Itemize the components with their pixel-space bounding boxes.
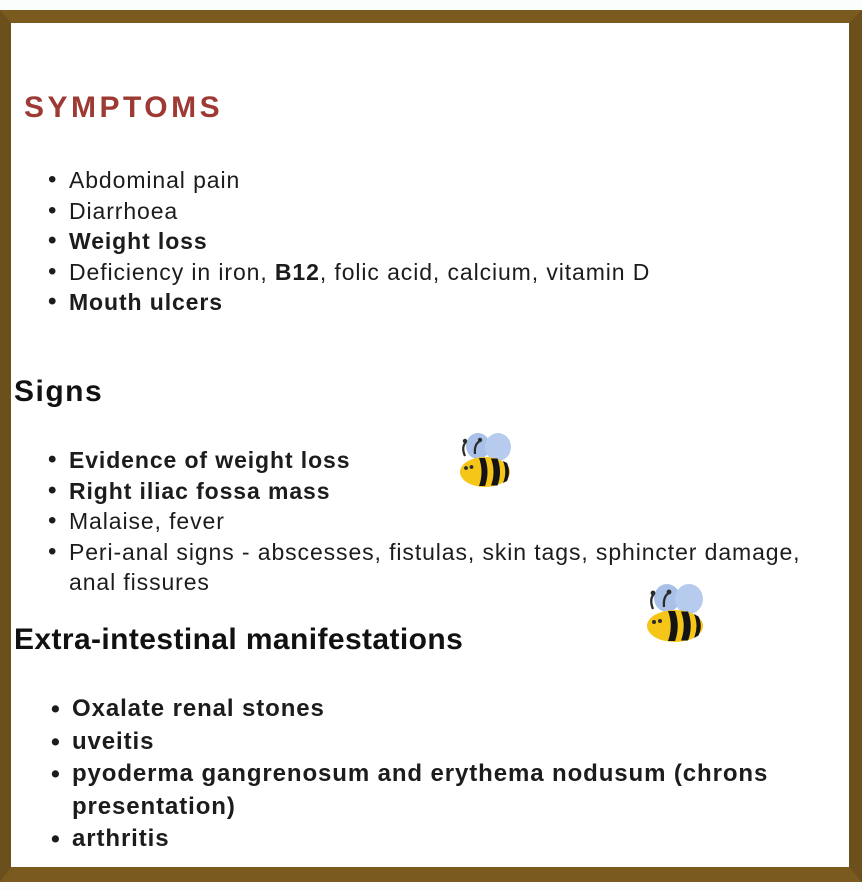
section-heading-signs: Signs (14, 375, 103, 409)
list-item: Evidence of weight loss (44, 445, 834, 476)
list-item: Oxalate renal stones (47, 693, 807, 726)
signs-list: Evidence of weight lossRight iliac fossa… (44, 445, 834, 598)
list-item: Weight loss (44, 226, 804, 257)
page-title-symptoms: SYMPTOMS (24, 91, 223, 125)
section-heading-extra-intestinal: Extra-intestinal manifestations (14, 623, 463, 657)
symptoms-list: Abdominal painDiarrhoeaWeight lossDefici… (44, 165, 804, 318)
list-item: pyoderma gangrenosum and erythema nodusu… (47, 758, 807, 823)
emphasis-text: B12 (275, 259, 320, 285)
list-item: Abdominal pain (44, 165, 804, 196)
list-item: Deficiency in iron, B12, folic acid, cal… (44, 257, 804, 288)
slide-content: SYMPTOMS Abdominal painDiarrhoeaWeight l… (11, 23, 849, 867)
slide-frame: SYMPTOMS Abdominal painDiarrhoeaWeight l… (0, 10, 862, 882)
list-item: Mouth ulcers (44, 287, 804, 318)
list-item: Peri-anal signs - abscesses, fistulas, s… (44, 537, 834, 598)
list-item: Malaise, fever (44, 506, 834, 537)
list-item: Diarrhoea (44, 196, 804, 227)
list-item: arthritis (47, 823, 807, 856)
extra-intestinal-list: Oxalate renal stonesuveitispyoderma gang… (47, 693, 807, 856)
list-item: uveitis (47, 726, 807, 759)
list-item: Right iliac fossa mass (44, 476, 834, 507)
